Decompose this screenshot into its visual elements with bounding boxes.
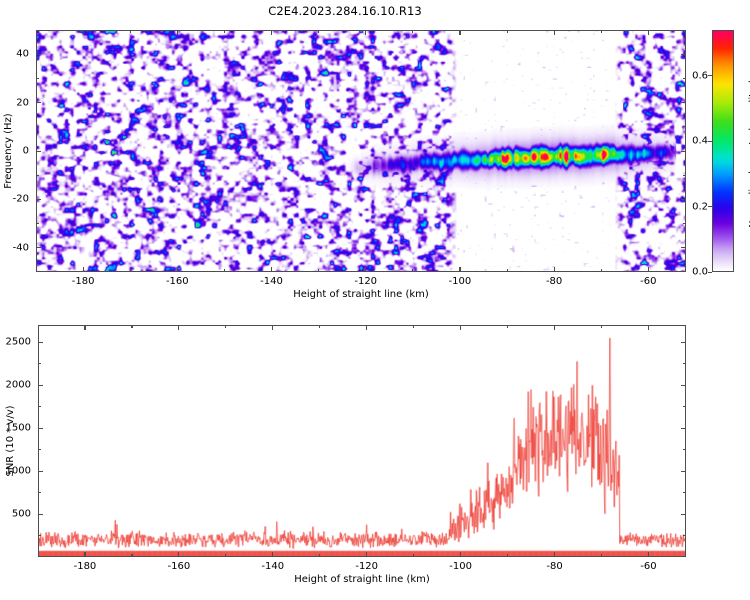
x-tick-label: -80 — [546, 276, 562, 287]
y-minor-tick-right — [683, 449, 686, 450]
colorbar-tick — [708, 206, 712, 207]
y-minor-tick-right — [683, 175, 686, 176]
x-minor-tick — [319, 554, 320, 557]
y-major-tick-right — [681, 54, 686, 55]
x-tick-label: -180 — [74, 561, 97, 572]
x-major-tick — [554, 552, 555, 557]
x-minor-tick — [224, 269, 225, 272]
x-minor-tick — [413, 554, 414, 557]
x-major-tick-top — [83, 30, 84, 35]
y-tick-label: -20 — [0, 194, 29, 205]
x-axis-label: Height of straight line (km) — [293, 289, 429, 300]
x-tick-label: -80 — [546, 561, 562, 572]
x-tick-label: -120 — [355, 561, 378, 572]
colorbar-tick-label: 0.4 — [690, 136, 708, 147]
y-axis-label: Frequency (Hz) — [3, 113, 14, 188]
y-minor-tick-right — [683, 78, 686, 79]
x-major-tick-top — [366, 325, 367, 330]
y-tick-label: 2500 — [0, 337, 31, 348]
x-major-tick-top — [178, 325, 179, 330]
y-major-tick — [38, 428, 43, 429]
x-minor-tick-top — [131, 325, 132, 328]
x-major-tick-top — [177, 30, 178, 35]
snr-axes — [38, 325, 686, 557]
x-minor-tick-top — [601, 30, 602, 33]
y-tick-label: -40 — [0, 242, 29, 253]
x-minor-tick — [507, 269, 508, 272]
y-tick-label: 2000 — [0, 380, 31, 391]
y-major-tick — [36, 199, 41, 200]
y-minor-tick-right — [683, 126, 686, 127]
x-major-tick — [460, 552, 461, 557]
y-major-tick-right — [681, 342, 686, 343]
x-major-tick-top — [554, 325, 555, 330]
x-tick-label: -60 — [640, 276, 656, 287]
x-tick-label: -160 — [168, 561, 191, 572]
y-tick-label: 20 — [0, 97, 29, 108]
colorbar-tick — [708, 75, 712, 76]
y-major-tick — [36, 54, 41, 55]
x-tick-label: -120 — [354, 276, 377, 287]
x-minor-tick — [601, 269, 602, 272]
x-minor-tick-top — [319, 325, 320, 328]
x-major-tick-top — [648, 325, 649, 330]
x-minor-tick-top — [224, 30, 225, 33]
y-major-tick — [36, 247, 41, 248]
x-major-tick-top — [648, 30, 649, 35]
spectrogram-axes — [36, 30, 686, 272]
y-minor-tick-right — [683, 363, 686, 364]
figure-root: C2E4.2023.284.16.10.R13 -180-160-140-120… — [0, 0, 750, 600]
y-tick-label: 500 — [0, 509, 31, 520]
y-major-tick-right — [681, 471, 686, 472]
y-major-tick-right — [681, 428, 686, 429]
x-major-tick — [366, 552, 367, 557]
y-minor-tick — [38, 363, 41, 364]
colorbar-gradient — [713, 31, 733, 271]
y-major-tick — [38, 471, 43, 472]
x-minor-tick — [225, 554, 226, 557]
x-minor-tick — [36, 269, 37, 272]
x-major-tick-top — [271, 30, 272, 35]
x-minor-tick-top — [412, 30, 413, 33]
x-major-tick — [365, 267, 366, 272]
x-minor-tick-top — [507, 325, 508, 328]
x-minor-tick — [507, 554, 508, 557]
y-minor-tick — [38, 492, 41, 493]
x-tick-label: -140 — [261, 561, 284, 572]
x-major-tick — [459, 267, 460, 272]
y-major-tick — [36, 102, 41, 103]
x-major-tick — [83, 267, 84, 272]
x-minor-tick-top — [507, 30, 508, 33]
colorbar — [712, 30, 734, 272]
x-tick-label: -100 — [449, 561, 472, 572]
y-major-tick-right — [681, 514, 686, 515]
snr-line-plot — [39, 326, 685, 556]
y-minor-tick — [38, 406, 41, 407]
x-major-tick — [272, 552, 273, 557]
x-axis-label: Height of straight line (km) — [294, 574, 430, 585]
x-major-tick-top — [459, 30, 460, 35]
colorbar-frame — [712, 30, 734, 272]
x-major-tick-top — [84, 325, 85, 330]
y-minor-tick — [36, 223, 39, 224]
colorbar-tick-label: 0.6 — [690, 70, 708, 81]
y-minor-tick — [38, 449, 41, 450]
y-major-tick — [36, 151, 41, 152]
x-tick-label: -100 — [449, 276, 472, 287]
x-tick-label: -140 — [260, 276, 283, 287]
x-minor-tick-top — [413, 325, 414, 328]
x-minor-tick — [38, 554, 39, 557]
x-tick-label: -180 — [72, 276, 95, 287]
x-minor-tick-top — [601, 325, 602, 328]
y-major-tick — [38, 514, 43, 515]
x-minor-tick — [131, 554, 132, 557]
y-minor-tick-right — [683, 406, 686, 407]
x-minor-tick — [412, 269, 413, 272]
colorbar-tick-label: 0.2 — [690, 201, 708, 212]
figure-title: C2E4.2023.284.16.10.R13 — [0, 4, 690, 18]
y-tick-label: 40 — [0, 49, 29, 60]
y-minor-tick — [38, 535, 41, 536]
y-major-tick — [38, 385, 43, 386]
y-axis-label: SNR (10 * v/v) — [5, 405, 16, 476]
x-major-tick — [84, 552, 85, 557]
colorbar-tick — [708, 272, 712, 273]
y-minor-tick-right — [683, 535, 686, 536]
x-minor-tick-top — [130, 30, 131, 33]
x-major-tick — [648, 552, 649, 557]
colorbar-tick-label: 0.0 — [690, 267, 708, 278]
x-major-tick — [178, 552, 179, 557]
x-tick-label: -60 — [640, 561, 656, 572]
colorbar-tick — [708, 141, 712, 142]
x-major-tick-top — [554, 30, 555, 35]
y-minor-tick-right — [683, 223, 686, 224]
y-major-tick-right — [681, 151, 686, 152]
x-major-tick — [271, 267, 272, 272]
y-minor-tick — [36, 78, 39, 79]
y-minor-tick — [36, 175, 39, 176]
x-minor-tick — [130, 269, 131, 272]
y-minor-tick — [36, 126, 39, 127]
x-minor-tick-top — [36, 30, 37, 33]
x-major-tick-top — [365, 30, 366, 35]
y-major-tick-right — [681, 102, 686, 103]
y-major-tick-right — [681, 247, 686, 248]
x-major-tick-top — [272, 325, 273, 330]
x-minor-tick-top — [38, 325, 39, 328]
y-major-tick — [38, 342, 43, 343]
x-major-tick — [554, 267, 555, 272]
x-minor-tick — [601, 554, 602, 557]
y-major-tick-right — [681, 385, 686, 386]
spectrogram-image — [37, 31, 685, 271]
x-tick-label: -160 — [166, 276, 189, 287]
x-minor-tick-top — [318, 30, 319, 33]
x-major-tick-top — [460, 325, 461, 330]
x-major-tick — [648, 267, 649, 272]
x-minor-tick — [318, 269, 319, 272]
x-major-tick — [177, 267, 178, 272]
y-minor-tick-right — [683, 492, 686, 493]
x-minor-tick-top — [225, 325, 226, 328]
y-major-tick-right — [681, 199, 686, 200]
